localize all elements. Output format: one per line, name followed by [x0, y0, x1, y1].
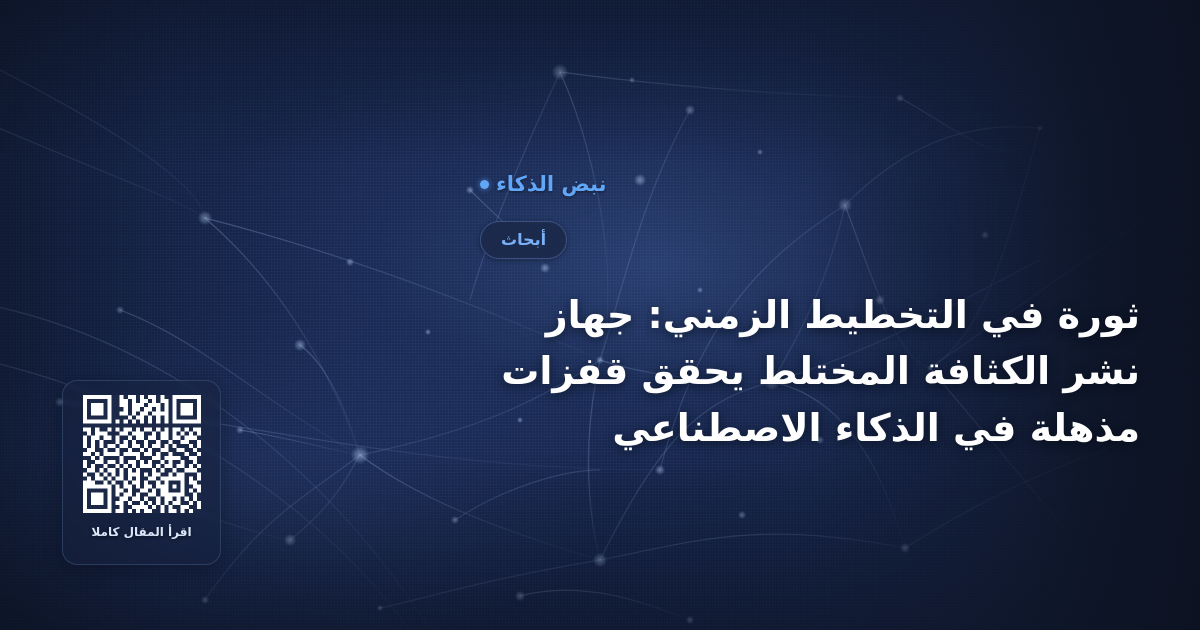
category-badge: أبحاث [480, 221, 567, 259]
qr-code-icon [83, 395, 201, 513]
brand-name: نبض الذكاء [496, 174, 606, 195]
social-share-card: نبض الذكاء أبحاث ثورة في التخطيط الزمني:… [0, 0, 1200, 630]
brand-lockup: نبض الذكاء [480, 174, 606, 195]
qr-caption: اقرأ المقال كاملا [91, 526, 191, 538]
page-title: ثورة في التخطيط الزمني: جهاز نشر الكثافة… [480, 287, 1140, 456]
brand-dot-icon [480, 180, 489, 189]
content-column: نبض الذكاء أبحاث ثورة في التخطيط الزمني:… [480, 0, 1200, 630]
qr-code-card[interactable]: اقرأ المقال كاملا [62, 380, 221, 565]
